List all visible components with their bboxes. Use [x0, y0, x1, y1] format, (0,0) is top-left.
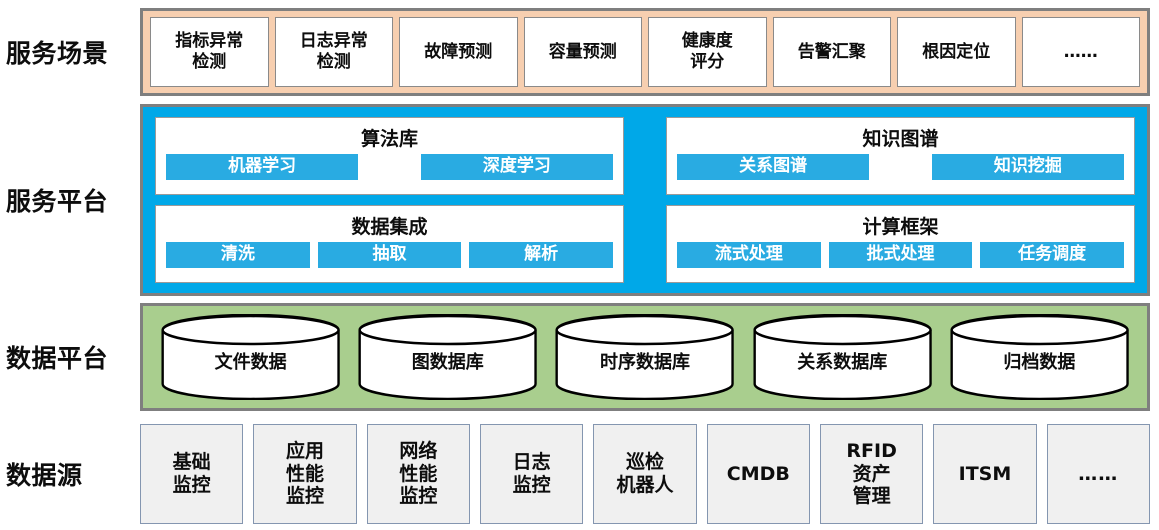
data-source-box[interactable]: 日志 监控 [480, 424, 583, 524]
data-source-box[interactable]: RFID 资产 管理 [820, 424, 923, 524]
scenario-box[interactable]: 故障预测 [399, 17, 518, 87]
database-cylinder[interactable]: 关系数据库 [751, 314, 934, 400]
cylinder-label: 图数据库 [412, 348, 484, 374]
data-source-box[interactable]: 应用 性能 监控 [253, 424, 356, 524]
module-chip[interactable]: 抽取 [318, 242, 462, 268]
module-title: 数据集成 [351, 217, 427, 238]
platform-module-grid: 算法库机器学习深度学习知识图谱关系图谱知识挖掘 [155, 117, 1135, 195]
cylinder-label: 文件数据 [215, 348, 287, 374]
data-source-box[interactable]: 网络 性能 监控 [367, 424, 470, 524]
service-scenario-band: 指标异常 检测日志异常 检测故障预测容量预测健康度 评分告警汇聚根因定位…… [140, 8, 1150, 96]
aiops-architecture-diagram: 服务场景 指标异常 检测日志异常 检测故障预测容量预测健康度 评分告警汇聚根因定… [0, 0, 1159, 530]
module-chip[interactable]: 关系图谱 [677, 154, 869, 180]
module-chip-row: 关系图谱知识挖掘 [677, 154, 1124, 180]
module-chip[interactable]: 流式处理 [677, 242, 821, 268]
module-chip[interactable]: 解析 [469, 242, 613, 268]
module-chip[interactable]: 任务调度 [980, 242, 1124, 268]
platform-module-card[interactable]: 算法库机器学习深度学习 [155, 117, 624, 195]
service-scenario-row: 服务场景 指标异常 检测日志异常 检测故障预测容量预测健康度 评分告警汇聚根因定… [0, 8, 1159, 96]
data-platform-row: 数据平台 文件数据图数据库时序数据库关系数据库归档数据 [0, 303, 1159, 411]
scenario-box[interactable]: 健康度 评分 [648, 17, 767, 87]
service-platform-band: 算法库机器学习深度学习知识图谱关系图谱知识挖掘数据集成清洗抽取解析计算框架流式处… [140, 104, 1150, 296]
scenario-box[interactable]: 指标异常 检测 [150, 17, 269, 87]
scenario-box[interactable]: 根因定位 [897, 17, 1016, 87]
row-label-service-platform: 服务平台 [0, 182, 140, 218]
database-cylinder[interactable]: 归档数据 [948, 314, 1131, 400]
scenario-box[interactable]: …… [1022, 17, 1141, 87]
scenario-box[interactable]: 告警汇聚 [773, 17, 892, 87]
database-cylinder[interactable]: 时序数据库 [553, 314, 736, 400]
module-chip-row: 机器学习深度学习 [166, 154, 613, 180]
row-label-data-platform: 数据平台 [0, 339, 140, 375]
module-chip[interactable]: 批式处理 [829, 242, 973, 268]
module-title: 计算框架 [862, 217, 938, 238]
database-cylinder[interactable]: 图数据库 [356, 314, 539, 400]
data-source-box[interactable]: …… [1047, 424, 1150, 524]
cylinder-label: 关系数据库 [797, 348, 887, 374]
service-platform-row: 服务平台 算法库机器学习深度学习知识图谱关系图谱知识挖掘数据集成清洗抽取解析计算… [0, 104, 1159, 296]
platform-module-card[interactable]: 计算框架流式处理批式处理任务调度 [666, 205, 1135, 283]
data-source-box[interactable]: CMDB [707, 424, 810, 524]
module-title: 算法库 [361, 129, 418, 150]
row-label-service-scenario: 服务场景 [0, 34, 140, 70]
cylinder-label: 时序数据库 [600, 348, 690, 374]
row-label-data-source: 数据源 [0, 456, 140, 492]
module-chip[interactable]: 清洗 [166, 242, 310, 268]
data-source-box[interactable]: 巡检 机器人 [593, 424, 696, 524]
data-source-row: 数据源 基础 监控应用 性能 监控网络 性能 监控日志 监控巡检 机器人CMDB… [0, 424, 1159, 524]
database-cylinder[interactable]: 文件数据 [159, 314, 342, 400]
platform-module-grid: 数据集成清洗抽取解析计算框架流式处理批式处理任务调度 [155, 205, 1135, 283]
module-chip[interactable]: 知识挖掘 [932, 154, 1124, 180]
data-source-strip: 基础 监控应用 性能 监控网络 性能 监控日志 监控巡检 机器人CMDBRFID… [140, 424, 1150, 524]
module-chip[interactable]: 深度学习 [421, 154, 613, 180]
data-source-box[interactable]: 基础 监控 [140, 424, 243, 524]
scenario-box[interactable]: 日志异常 检测 [275, 17, 394, 87]
data-source-box[interactable]: ITSM [933, 424, 1036, 524]
scenario-box[interactable]: 容量预测 [524, 17, 643, 87]
cylinder-label: 归档数据 [1003, 348, 1075, 374]
module-title: 知识图谱 [862, 129, 938, 150]
module-chip-row: 清洗抽取解析 [166, 242, 613, 268]
module-chip[interactable]: 机器学习 [166, 154, 358, 180]
data-platform-band: 文件数据图数据库时序数据库关系数据库归档数据 [140, 303, 1150, 411]
platform-module-card[interactable]: 数据集成清洗抽取解析 [155, 205, 624, 283]
module-chip-row: 流式处理批式处理任务调度 [677, 242, 1124, 268]
platform-module-card[interactable]: 知识图谱关系图谱知识挖掘 [666, 117, 1135, 195]
